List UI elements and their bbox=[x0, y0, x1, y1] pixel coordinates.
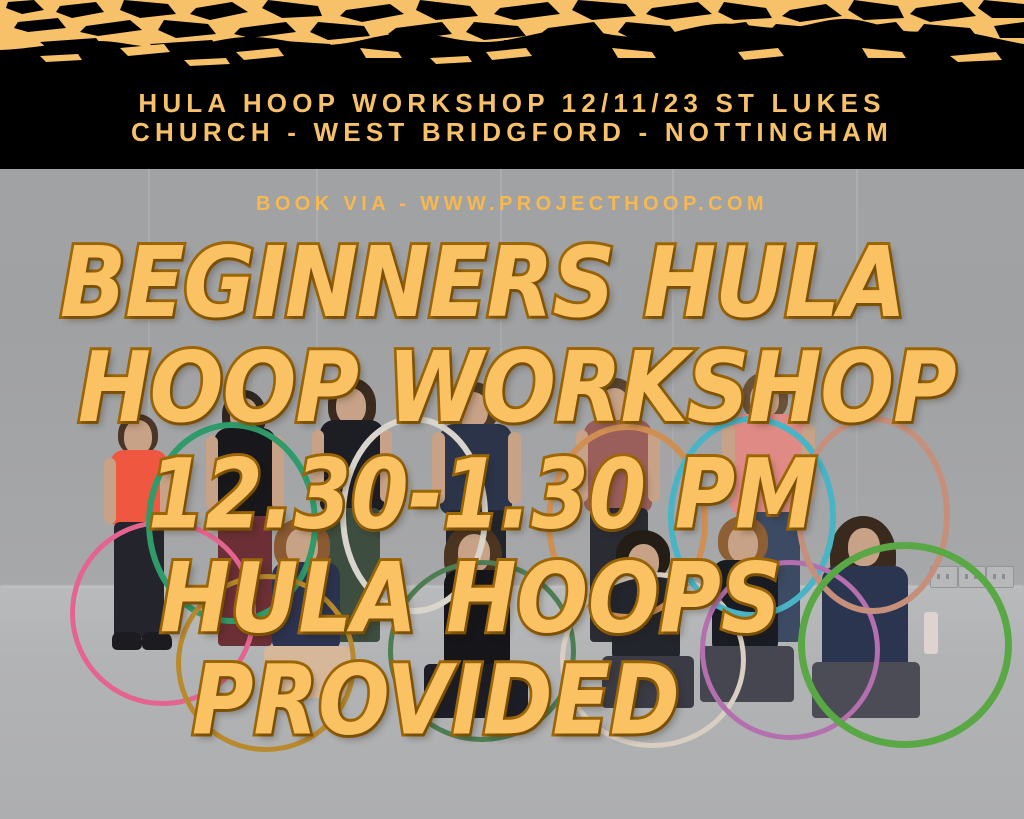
hula-hoop bbox=[176, 574, 356, 752]
header-line-2: CHURCH - WEST BRIDGFORD - NOTTINGHAM bbox=[0, 117, 1024, 148]
poster-canvas: HULA HOOP WORKSHOP 12/11/23 ST LUKES CHU… bbox=[0, 0, 1024, 819]
header-band: HULA HOOP WORKSHOP 12/11/23 ST LUKES CHU… bbox=[0, 0, 1024, 169]
booking-link[interactable]: BOOK VIA - WWW.PROJECTHOOP.COM bbox=[0, 193, 1024, 216]
hula-hoop bbox=[798, 542, 1012, 748]
grunge-texture-icon bbox=[0, 0, 1024, 72]
hula-hoop bbox=[388, 560, 576, 742]
header-line-1: HULA HOOP WORKSHOP 12/11/23 ST LUKES bbox=[0, 88, 1024, 119]
